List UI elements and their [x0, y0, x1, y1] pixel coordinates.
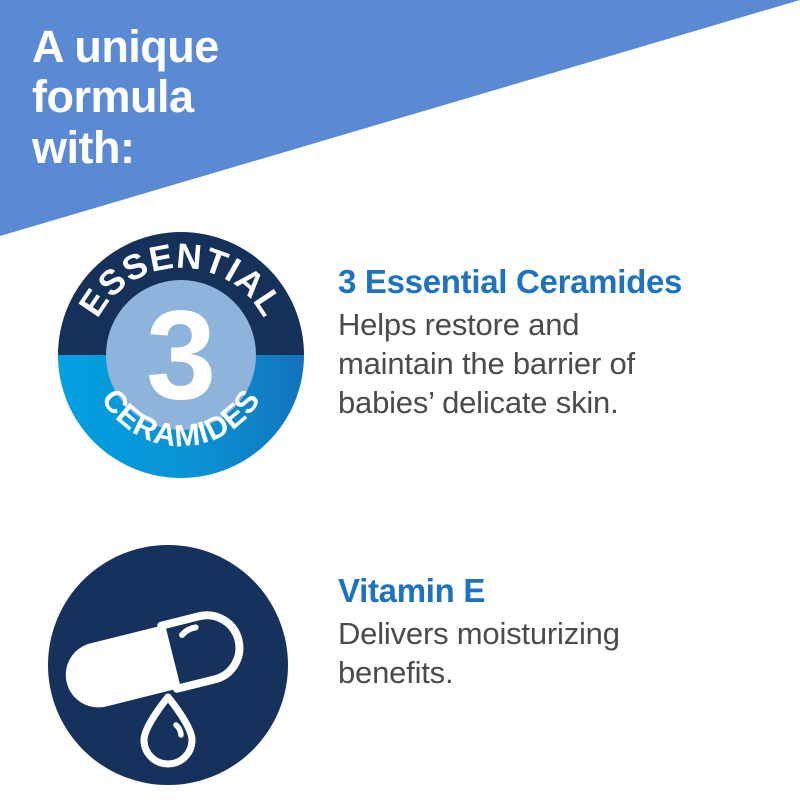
feature-ceramides-description-line-1: Helps restore and	[338, 305, 790, 344]
feature-essential-ceramides: ESSENTIAL CERAMIDES 3 3 Essential Cerami…	[0, 232, 800, 482]
header-banner: A unique formula with:	[0, 0, 800, 240]
feature-vitamin-e-description-line-1: Delivers moisturizing	[338, 614, 790, 653]
feature-vitamin-e-text: Vitamin E Delivers moisturizing benefits…	[338, 573, 790, 692]
product-feature-infographic: A unique formula with:	[0, 0, 800, 800]
header-title-line-3: with:	[32, 123, 452, 173]
feature-vitamin-e-description: Delivers moisturizing benefits.	[338, 614, 790, 692]
feature-ceramides-text: 3 Essential Ceramides Helps restore and …	[338, 264, 790, 422]
essential-ceramides-badge-icon: ESSENTIAL CERAMIDES 3	[58, 232, 304, 478]
feature-ceramides-description-line-2: maintain the barrier of	[338, 344, 790, 383]
feature-vitamin-e: Vitamin E Delivers moisturizing benefits…	[0, 545, 800, 790]
feature-ceramides-description-line-3: babies’ delicate skin.	[338, 383, 790, 422]
feature-vitamin-e-title: Vitamin E	[338, 573, 790, 610]
feature-ceramides-description: Helps restore and maintain the barrier o…	[338, 305, 790, 422]
header-title: A unique formula with:	[32, 22, 452, 173]
feature-vitamin-e-description-line-2: benefits.	[338, 653, 790, 692]
badge-center-number: 3	[146, 285, 216, 426]
header-title-line-2: formula	[32, 72, 452, 122]
vitamin-e-capsule-icon	[48, 545, 288, 785]
header-title-line-1: A unique	[32, 22, 452, 72]
feature-ceramides-title: 3 Essential Ceramides	[338, 264, 790, 301]
